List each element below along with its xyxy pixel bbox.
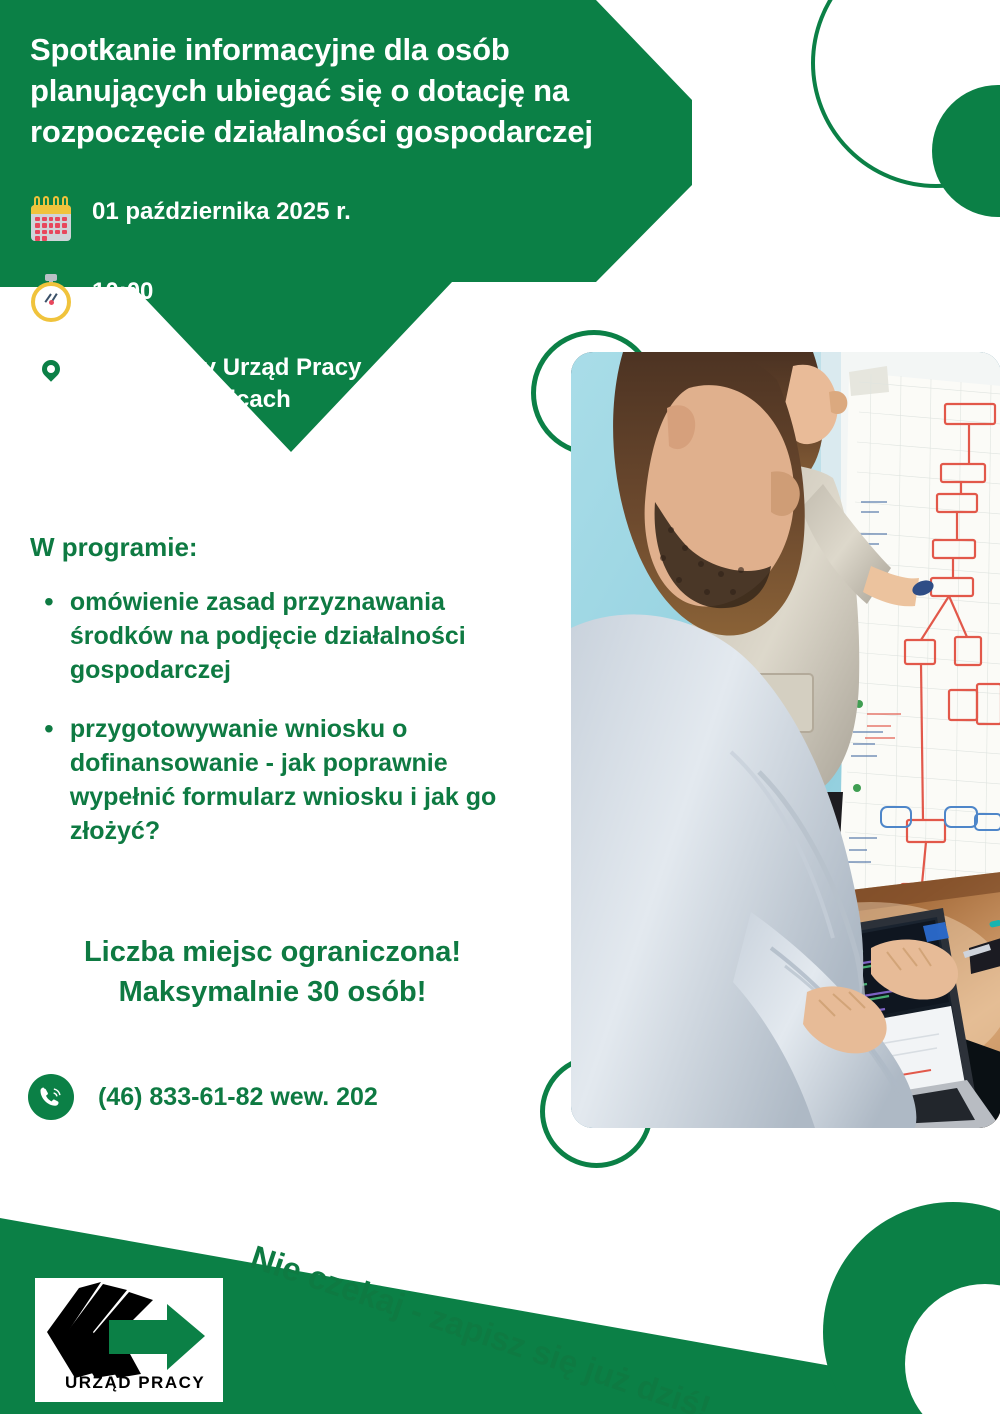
list-item: • przygotowywanie wniosku o dofinansowan… [44,713,544,848]
poster: Spotkanie informacyjne dla osób planując… [0,0,1000,1414]
detail-row-time: 10:00 [28,272,153,322]
program-list: • omówienie zasad przyznawania środków n… [44,586,544,874]
event-location: Powiatowy Urząd Pracy w Skierniewicach [92,348,361,417]
location-pin-icon [28,348,74,398]
logo-text: URZĄD PRACY [65,1373,205,1392]
event-date: 01 października 2025 r. [92,192,351,228]
bullet-glyph: • [44,713,54,848]
contact-phone[interactable]: (46) 833-61-82 wew. 202 [98,1083,378,1112]
limited-seats-notice: Liczba miejsc ograniczona! Maksymalnie 3… [0,932,545,1012]
program-heading: W programie: [30,532,198,563]
limited-seats-line1: Liczba miejsc ograniczona! [0,932,545,972]
list-item: • omówienie zasad przyznawania środków n… [44,586,544,687]
detail-row-date: 01 października 2025 r. [28,192,351,244]
urzad-pracy-logo: URZĄD PRACY [35,1278,223,1402]
event-photo [571,352,1000,1128]
phone-icon [28,1074,74,1120]
decorative-donut-bottom-right [823,1202,1000,1414]
calendar-icon [28,192,74,244]
program-item-text: przygotowywanie wniosku o dofinansowanie… [70,713,544,848]
stopwatch-icon [28,272,74,322]
event-time: 10:00 [92,272,153,308]
limited-seats-line2: Maksymalnie 30 osób! [0,972,545,1012]
bullet-glyph: • [44,586,54,687]
program-item-text: omówienie zasad przyznawania środków na … [70,586,544,687]
contact-row[interactable]: (46) 833-61-82 wew. 202 [28,1074,378,1120]
detail-row-location: Powiatowy Urząd Pracy w Skierniewicach [28,348,361,417]
page-title: Spotkanie informacyjne dla osób planując… [30,30,670,153]
